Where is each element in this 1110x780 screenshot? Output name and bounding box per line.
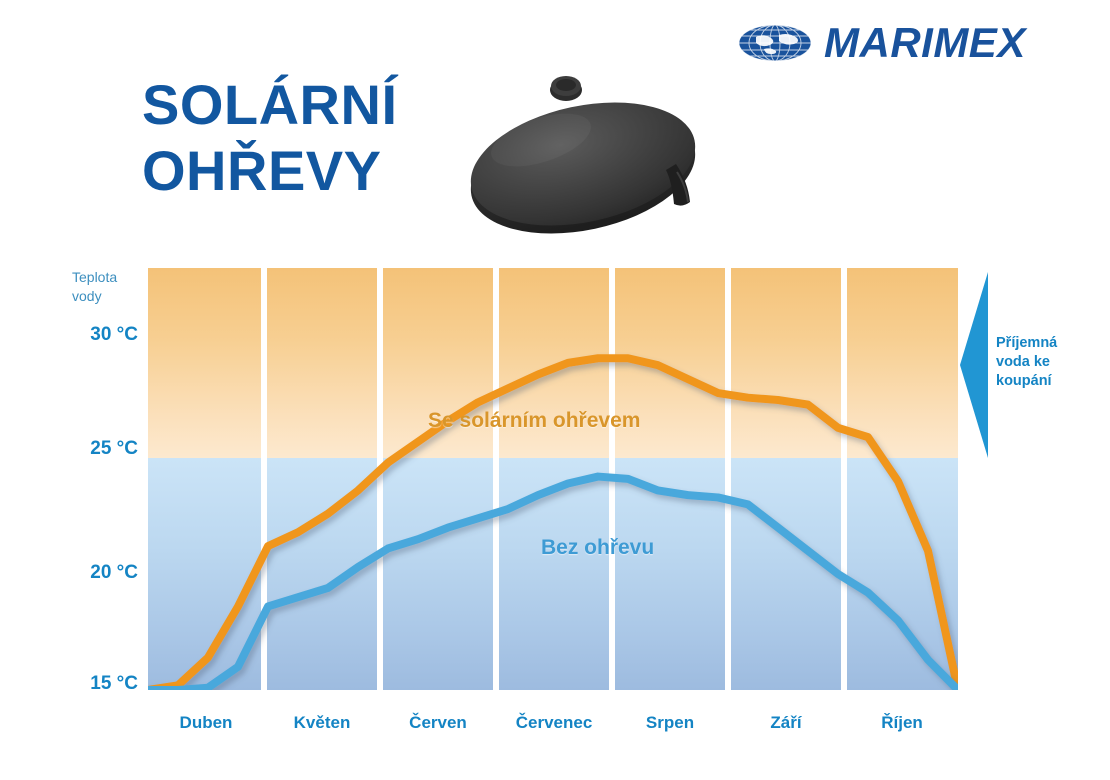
solar-dome-icon (463, 52, 713, 247)
y-tick-20: 20 °C (60, 562, 138, 584)
x-tick-srpen: Srpen (612, 713, 728, 733)
series-label-without-heater: Bez ohřevu (541, 536, 654, 560)
series-line-with-heater (148, 358, 958, 690)
y-axis-title: Teplota vody (72, 268, 142, 306)
globe-icon (738, 23, 812, 63)
page-title-line1: SOLÁRNÍ (142, 73, 398, 136)
comfort-range-arrow (958, 272, 988, 458)
x-tick-zari: Září (728, 713, 844, 733)
page-title-line2: OHŘEVY (142, 138, 502, 204)
y-tick-25: 25 °C (60, 438, 138, 460)
brand-logo: MARIMEX (738, 22, 1026, 64)
infographic-root: SOLÁRNÍ OHŘEVY (0, 0, 1110, 780)
page-title: SOLÁRNÍ OHŘEVY (142, 72, 502, 204)
x-tick-duben: Duben (148, 713, 264, 733)
y-tick-30: 30 °C (60, 324, 138, 346)
comfort-label-line1: Příjemná (996, 334, 1104, 353)
comfort-label-line3: koupání (996, 372, 1104, 391)
x-tick-cerven: Červen (380, 713, 496, 733)
x-tick-kveten: Květen (264, 713, 380, 733)
comfort-label-line2: voda ke (996, 353, 1104, 372)
comfort-range-label: Příjemná voda ke koupání (996, 334, 1104, 391)
solar-dome-cover-image (463, 52, 713, 247)
temperature-chart (148, 268, 958, 690)
left-arrow-icon (958, 272, 988, 458)
x-tick-cervenec: Červenec (496, 713, 612, 733)
series-line-without-heater (148, 477, 958, 690)
y-tick-15: 15 °C (60, 673, 138, 695)
x-tick-rijen: Říjen (844, 713, 960, 733)
brand-name: MARIMEX (824, 22, 1026, 64)
series-label-with-heater: Se solárním ohřevem (428, 409, 640, 433)
series-lines (148, 268, 958, 690)
